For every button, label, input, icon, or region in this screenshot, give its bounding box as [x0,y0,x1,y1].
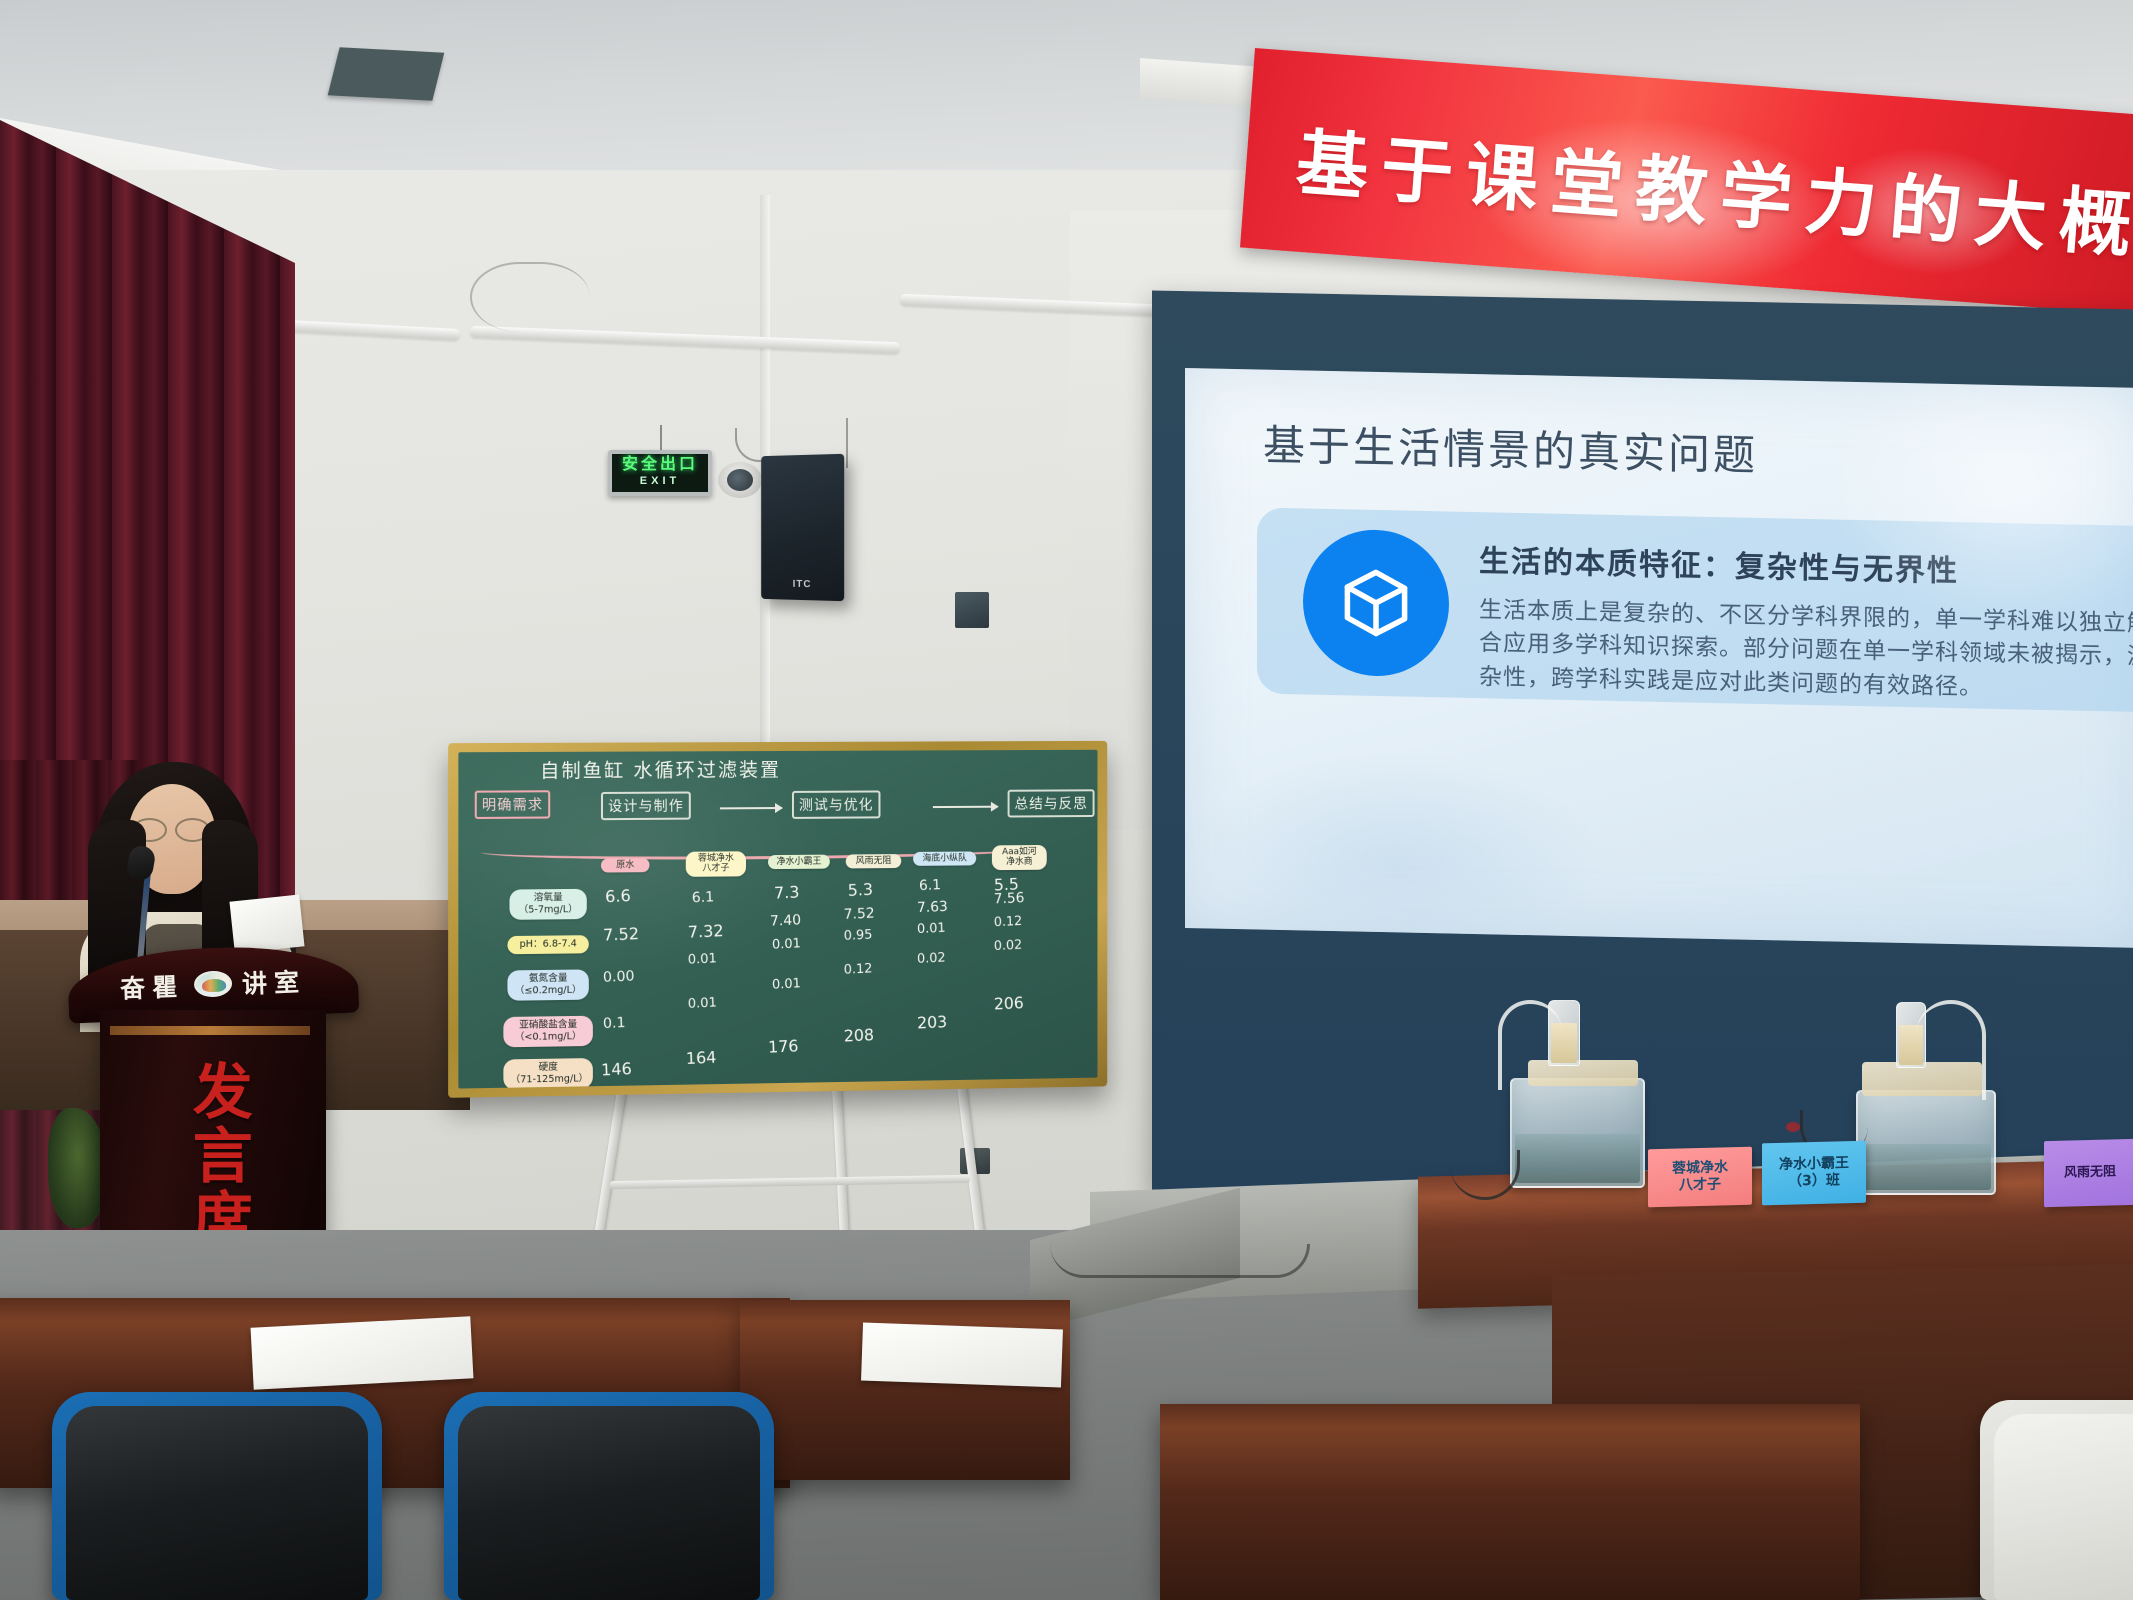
cell-r4-c3: 208 [843,1025,874,1045]
cell-r3-c5: 0.02 [994,938,1023,954]
row-label-3: 亚硝酸盐含量 （<0.1mg/L） [503,1016,593,1047]
column-header-5: Aaa如河 净水商 [992,845,1047,870]
tank-water-left [1515,1134,1640,1183]
chalkboard-surface: 自制鱼缸 水循环过滤装置 明确需求 设计与制作 测试与优化 总结与反思 原水 蓉… [458,750,1097,1089]
projection-screen: 基于生活情景的真实问题 生活的本质特征：复杂性与无界性 生活本质上是复杂的、不区… [1185,368,2133,948]
cell-r2-c5: 0.12 [994,914,1023,930]
lectern-accent-strip [110,1026,310,1035]
cube-icon [1303,528,1449,677]
cell-r3-c1: 0.01 [688,995,718,1011]
tank-water-right [1861,1144,1991,1190]
presenter-notes-paper [229,894,304,953]
chair-left-seatback [66,1406,368,1600]
papers-right [861,1323,1063,1388]
row-label-4: 硬度 （71-125mg/L） [503,1058,593,1089]
lectern-title-right: 讲室 [241,962,306,1000]
wall-speaker: ITC [761,454,844,601]
row-label-0: 溶氧量 （5-7mg/L） [509,889,586,920]
water-filter-model-right [1856,1090,1996,1195]
exit-sign-chinese: 安全出口 [622,457,698,473]
column-header-2: 净水小霸王 [768,855,830,870]
cell-r1-c2: 7.40 [770,912,802,929]
lectern-title-left: 奋瞿 [119,967,184,1005]
slide-title: 基于生活情景的真实问题 [1263,412,1758,483]
school-emblem-icon [194,970,233,997]
cell-r4-c2: 176 [768,1036,799,1057]
chair-right [444,1392,774,1600]
water-tube-right [1916,1000,1986,1100]
exit-sign-english: EXIT [640,473,680,490]
papers-left [251,1316,474,1389]
row-label-2: 氨氮含量 （≤0.2mg/L） [507,969,588,1000]
cell-r0-c2: 7.3 [774,882,800,902]
cell-r1-c0: 7.52 [603,924,640,945]
cell-r0-c4: 6.1 [919,877,942,894]
speaker-brand-label: ITC [793,579,812,590]
chalkboard-title: 自制鱼缸 水循环过滤装置 [540,755,781,783]
cell-r0-c0: 6.6 [605,886,631,906]
flow-step-4: 总结与反思 [1008,789,1095,817]
slide-heading: 生活的本质特征：复杂性与无界性 [1479,536,1959,590]
chair-right-seatback [458,1406,760,1600]
speaker-wire [846,418,848,468]
column-header-0: 原水 [601,858,650,873]
ceiling-camera-icon [718,462,762,498]
floor-cable [1050,1244,1310,1278]
cell-r1-c4: 7.63 [917,899,948,916]
chalkboard-frame: 自制鱼缸 水循环过滤装置 明确需求 设计与制作 测试与优化 总结与反思 原水 蓉… [448,741,1107,1098]
chair-left [52,1392,382,1600]
slide-content-card: 生活的本质特征：复杂性与无界性 生活本质上是复杂的、不区分学科界限的，单一学科难… [1257,507,2133,712]
cell-r4-c1: 164 [685,1048,716,1069]
slide-body: 生活本质上是复杂的、不区分学科界限的，单一学科难以独立解 合应用多学科知识探索。… [1479,594,2133,710]
chair-far-right-seatback [1994,1414,2133,1600]
wall-outlet-box-upper [955,592,989,628]
flow-step-2: 设计与制作 [601,791,691,820]
cell-r1-c3: 7.52 [843,906,874,923]
cell-r3-c3: 0.12 [843,961,872,977]
chalkboard: 自制鱼缸 水循环过滤装置 明确需求 设计与制作 测试与优化 总结与反思 原水 蓉… [452,742,1112,1092]
classroom-photo-scene: 安全出口 EXIT ITC 基于课堂教学力的大概念 基于生活情景的真实问题 生活… [0,0,2133,1600]
exit-sign-wire [660,425,662,453]
front-table-far-right [1160,1404,1860,1600]
flow-step-3: 测试与优化 [792,790,880,818]
ceiling-vent [328,47,445,101]
cell-r2-c0: 0.00 [603,968,635,986]
namecard-purple: 风雨无阻 [2044,1139,2133,1207]
cell-r2-c3: 0.95 [843,928,872,944]
cell-r2-c1: 0.01 [688,951,718,967]
chair-far-right [1980,1400,2133,1600]
cell-r0-c3: 5.3 [847,880,873,900]
cell-r2-c2: 0.01 [772,936,801,952]
namecard-pink: 蓉城净水 八才子 [1648,1147,1752,1208]
row-label-1: pH：6.8-7.4 [507,935,588,954]
water-filter-model-left [1510,1078,1645,1188]
water-tube-left [1498,1000,1562,1090]
lectern-header-text: 奋瞿 讲室 [67,960,358,1007]
cell-r0-c1: 6.1 [692,889,715,906]
exit-sign: 安全出口 EXIT [608,450,712,496]
column-header-4: 海底小纵队 [913,851,976,866]
flow-arrow-1 [720,807,782,809]
cell-r2-c4: 0.01 [917,921,946,937]
event-banner-text: 基于课堂教学力的大概念 [1293,104,2133,279]
chalk-underline [481,839,1041,861]
lectern-front-text: 发言席 [186,1060,247,1252]
column-header-1: 蓉城净水 八才子 [686,851,746,876]
wall-conduit [470,262,590,332]
cell-r1-c1: 7.32 [687,921,723,942]
cell-r3-c4: 0.02 [917,951,946,967]
cell-r3-c0: 0.1 [603,1015,626,1032]
column-header-3: 风雨无阻 [846,854,902,869]
cell-r1-c5: 7.56 [994,890,1025,907]
cell-r4-c0: 146 [601,1059,633,1080]
floor-marker-dot [1786,1122,1800,1132]
namecard-blue: 净水小霸王 （3）班 [1762,1141,1866,1206]
cell-r4-c4: 203 [917,1012,948,1032]
flow-step-1: 明确需求 [475,790,550,819]
cell-r3-c2: 0.01 [772,976,801,992]
cell-r4-c5: 206 [994,993,1025,1013]
cell-r0-c5: 5.5 [994,874,1020,894]
flow-arrow-2 [933,806,998,808]
